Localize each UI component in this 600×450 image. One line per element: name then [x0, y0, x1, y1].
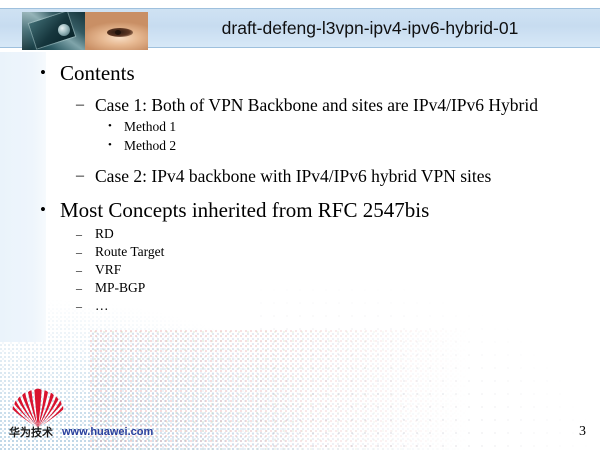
- outline-item-ellipsis: – …: [76, 297, 600, 315]
- slide-title: draft-defeng-l3vpn-ipv4-ipv6-hybrid-01: [150, 8, 590, 48]
- dash-bullet-glyph: –: [76, 297, 95, 315]
- dash-bullet-glyph: –: [76, 261, 95, 279]
- huawei-fan-logo: [12, 388, 64, 428]
- outline-text: Case 2: IPv4 backbone with IPv4/IPv6 hyb…: [95, 165, 560, 188]
- slide-body: • Contents – Case 1: Both of VPN Backbon…: [0, 60, 600, 315]
- outline-item-method-1: • Method 1: [108, 117, 600, 136]
- outline-text: Contents: [60, 60, 600, 86]
- outline-item-mp-bgp: – MP-BGP: [76, 279, 600, 297]
- outline-item-rd: – RD: [76, 225, 600, 243]
- slide: draft-defeng-l3vpn-ipv4-ipv6-hybrid-01 •…: [0, 0, 600, 450]
- page-number: 3: [579, 424, 586, 440]
- bullet-glyph: •: [40, 60, 60, 86]
- dash-bullet-glyph: –: [76, 279, 95, 297]
- outline-item-case-2: – Case 2: IPv4 backbone with IPv4/IPv6 h…: [76, 165, 560, 188]
- eye-closeup-photo: [85, 12, 148, 50]
- bullet-glyph: •: [40, 197, 60, 223]
- outline-item-route-target: – Route Target: [76, 243, 600, 261]
- outline-text: Method 1: [124, 117, 600, 136]
- dash-bullet-glyph: –: [76, 225, 95, 243]
- outline-item-method-2: • Method 2: [108, 136, 600, 155]
- outline-item-most-concepts: • Most Concepts inherited from RFC 2547b…: [40, 197, 600, 223]
- outline-text: MP-BGP: [95, 279, 600, 297]
- dash-bullet-glyph: –: [76, 243, 95, 261]
- circuit-board-photo: [22, 12, 85, 50]
- outline-item-contents: • Contents: [40, 60, 600, 86]
- company-url[interactable]: www.huawei.com: [62, 426, 153, 438]
- outline-text: RD: [95, 225, 600, 243]
- outline-text: Case 1: Both of VPN Backbone and sites a…: [95, 94, 560, 117]
- outline-text: Most Concepts inherited from RFC 2547bis: [60, 197, 600, 223]
- outline-item-case-1: – Case 1: Both of VPN Backbone and sites…: [76, 94, 560, 117]
- bullet-glyph: •: [108, 117, 124, 136]
- slide-header: draft-defeng-l3vpn-ipv4-ipv6-hybrid-01: [0, 8, 600, 48]
- outline-text: VRF: [95, 261, 600, 279]
- outline-text: Route Target: [95, 243, 600, 261]
- spacer: [0, 155, 600, 165]
- dash-bullet-glyph: –: [76, 165, 95, 188]
- outline-item-vrf: – VRF: [76, 261, 600, 279]
- spacer: [0, 187, 600, 197]
- outline-text: Method 2: [124, 136, 600, 155]
- bullet-glyph: •: [108, 136, 124, 155]
- dash-bullet-glyph: –: [76, 94, 95, 117]
- company-name-cn: 华为技术: [9, 424, 53, 440]
- outline-text: …: [95, 297, 600, 315]
